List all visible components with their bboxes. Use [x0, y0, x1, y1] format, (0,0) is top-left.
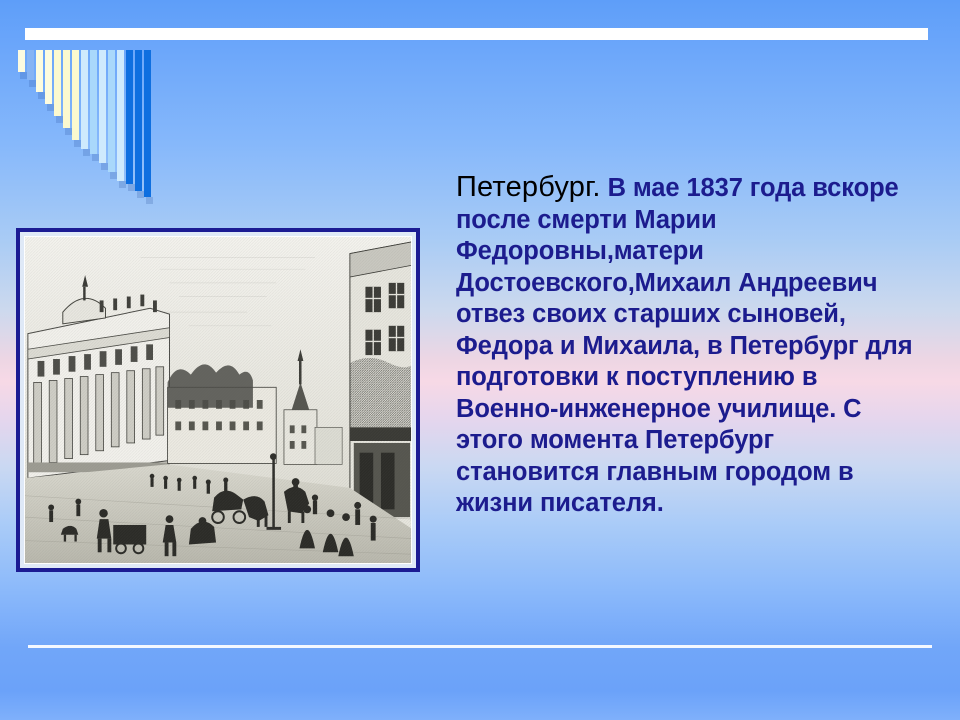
- decorative-bar-shadow: [83, 149, 90, 156]
- text-block: Петербург. В мае 1837 года вскоре после …: [456, 172, 918, 520]
- lead-term: Петербург.: [456, 171, 601, 203]
- decorative-bar: [135, 50, 142, 191]
- decorative-bar: [99, 50, 106, 163]
- picture-mat: [20, 232, 416, 568]
- decorative-bar: [45, 50, 52, 104]
- decorative-bars: [18, 50, 168, 200]
- decorative-bar: [54, 50, 61, 116]
- decorative-bar-shadow: [20, 72, 27, 79]
- decorative-bar: [72, 50, 79, 140]
- top-rule: [25, 28, 928, 40]
- slide-canvas: Петербург. В мае 1837 года вскоре после …: [0, 0, 960, 720]
- decorative-bar-shadow: [101, 163, 108, 170]
- decorative-bar-shadow: [47, 104, 54, 111]
- decorative-bar: [108, 50, 115, 172]
- decorative-bar-shadow: [137, 191, 144, 198]
- decorative-bar: [81, 50, 88, 149]
- decorative-bar-shadow: [74, 140, 81, 147]
- decorative-bar: [144, 50, 151, 197]
- slide-body-text: В мае 1837 года вскоре после смерти Мари…: [456, 174, 913, 517]
- picture-frame: [16, 228, 420, 572]
- decorative-bar-shadow: [110, 172, 117, 179]
- decorative-bar: [117, 50, 124, 181]
- decorative-bar: [18, 50, 25, 72]
- decorative-bar: [126, 50, 133, 184]
- decorative-bar-shadow: [65, 128, 72, 135]
- decorative-bar-shadow: [146, 197, 153, 204]
- decorative-bar: [63, 50, 70, 128]
- decorative-bar-shadow: [128, 184, 135, 191]
- decorative-bar: [27, 50, 34, 80]
- decorative-bar-shadow: [56, 116, 63, 123]
- decorative-bar: [36, 50, 43, 92]
- engraving-nevsky-prospect: [24, 236, 412, 564]
- decorative-bar-shadow: [38, 92, 45, 99]
- decorative-bar-shadow: [92, 154, 99, 161]
- slide-paragraph: Петербург. В мае 1837 года вскоре после …: [456, 172, 918, 520]
- decorative-bar: [90, 50, 97, 154]
- bottom-rule: [28, 645, 932, 648]
- decorative-bar-shadow: [29, 80, 36, 87]
- decorative-bar-shadow: [119, 181, 126, 188]
